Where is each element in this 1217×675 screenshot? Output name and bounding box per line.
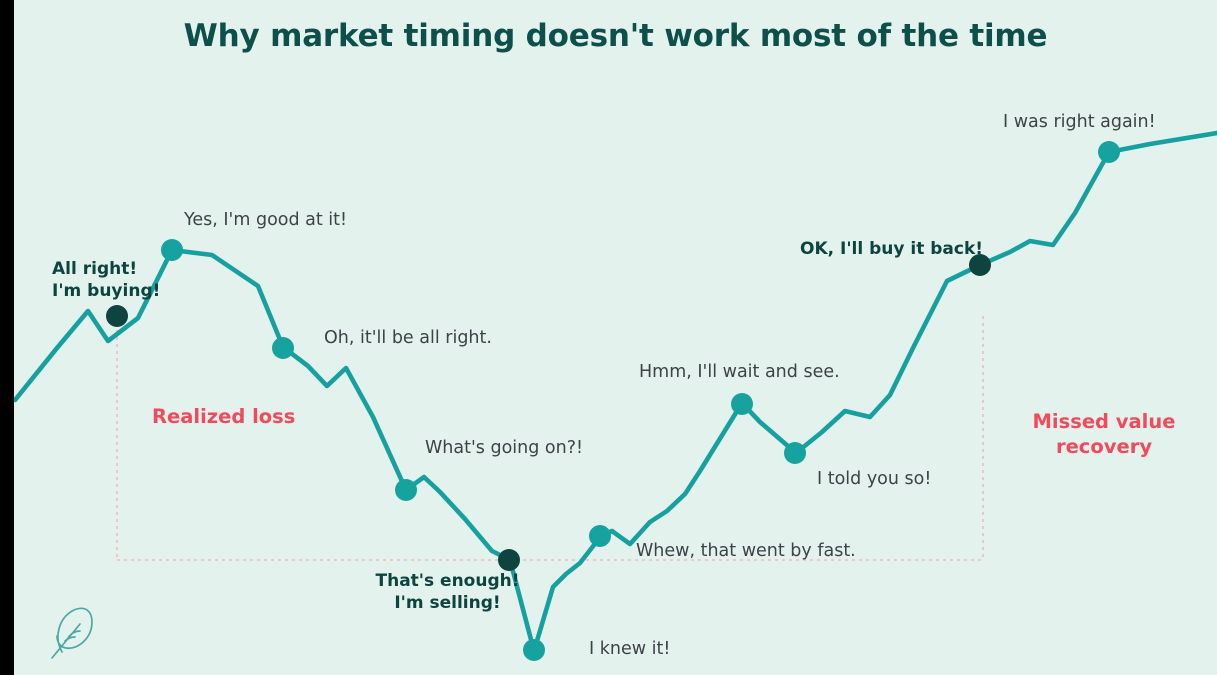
annotation-line-2: I'm buying!: [52, 281, 160, 303]
marker-sell-point: [498, 549, 520, 571]
marker-bottom-point: [523, 639, 545, 661]
annotation-i-was-right-again: I was right again!: [1003, 111, 1156, 133]
annotation-line-2: I'm selling!: [375, 593, 520, 615]
marker-dip-point-1: [272, 337, 294, 359]
region-label-line-1: Missed value: [1029, 409, 1179, 434]
annotation-all-right-im-buying: All right! I'm buying!: [52, 259, 160, 303]
marker-rebound-point: [589, 525, 611, 547]
annotation-whats-going-on: What's going on?!: [425, 437, 583, 459]
annotation-line-1: That's enough!: [375, 571, 520, 593]
marker-buy-point-1: [106, 305, 128, 327]
annotation-line-1: All right!: [52, 259, 160, 281]
annotation-i-knew-it: I knew it!: [589, 638, 670, 660]
market-timing-line-chart: [14, 0, 1217, 675]
infographic-canvas: Why market timing doesn't work most of t…: [14, 0, 1217, 675]
page-title: Why market timing doesn't work most of t…: [14, 18, 1217, 54]
region-label-realized-loss: Realized loss: [152, 404, 295, 429]
marker-dip-point-2: [395, 479, 417, 501]
annotation-hmm-ill-wait-and-see: Hmm, I'll wait and see.: [639, 361, 840, 383]
marker-wait-point: [731, 393, 753, 415]
annotation-thats-enough-im-selling: That's enough! I'm selling!: [375, 571, 520, 615]
region-label-missed-value-recovery: Missed value recovery: [1029, 409, 1179, 460]
marker-told-point: [784, 442, 806, 464]
annotation-yes-im-good-at-it: Yes, I'm good at it!: [184, 209, 347, 231]
leaf-logo-icon: [44, 600, 106, 662]
annotation-oh-itll-be-all-right: Oh, it'll be all right.: [324, 327, 492, 349]
annotation-ok-ill-buy-it-back: OK, I'll buy it back!: [800, 239, 983, 261]
annotation-whew-that-went-by-fast: Whew, that went by fast.: [636, 540, 856, 562]
region-label-line-2: recovery: [1029, 434, 1179, 459]
annotation-i-told-you-so: I told you so!: [817, 468, 931, 490]
marker-peak-point: [161, 239, 183, 261]
marker-right-again-point: [1098, 141, 1120, 163]
screenshot-root: Why market timing doesn't work most of t…: [0, 0, 1217, 675]
